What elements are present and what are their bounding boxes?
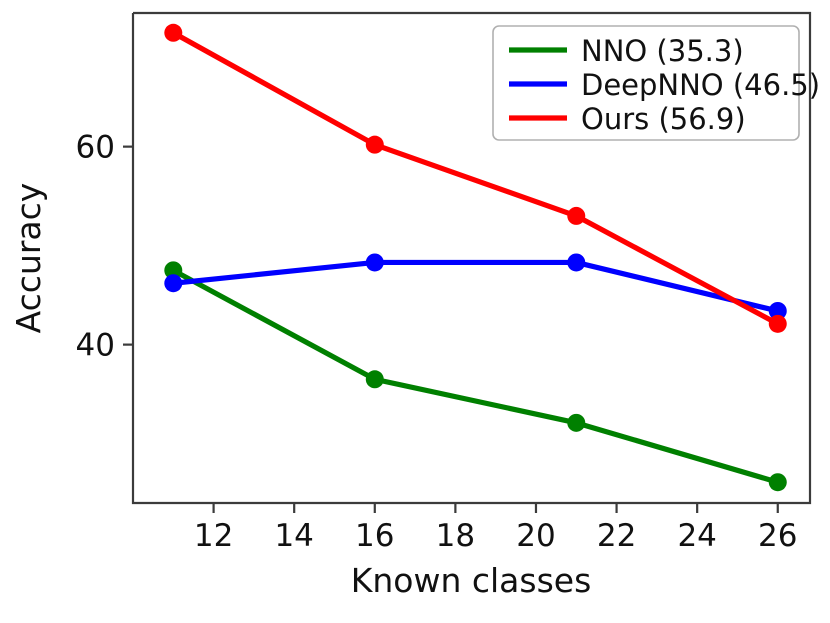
y-axis-title: Accuracy — [9, 183, 48, 334]
chart-figure: 1214161820222426 4060 Known classes Accu… — [0, 0, 830, 623]
y-axis-ticks: 4060 — [76, 130, 133, 364]
chart-legend[interactable]: NNO (35.3)DeepNNO (46.5)Ours (56.9) — [493, 26, 820, 140]
data-point-ours — [567, 207, 585, 225]
x-tick-label: 22 — [597, 518, 636, 554]
legend-label-0: NNO (35.3) — [581, 34, 744, 68]
data-point-deepnno — [366, 253, 384, 271]
x-tick-label: 20 — [516, 518, 555, 554]
data-point-ours — [366, 136, 384, 154]
x-axis-title: Known classes — [351, 561, 592, 600]
accuracy-vs-known-classes-line-chart: 1214161820222426 4060 Known classes Accu… — [0, 0, 830, 623]
data-point-nno — [769, 473, 787, 491]
x-tick-label: 18 — [436, 518, 475, 554]
data-point-nno — [567, 414, 585, 432]
x-tick-label: 12 — [194, 518, 233, 554]
x-tick-label: 14 — [274, 518, 313, 554]
legend-label-2: Ours (56.9) — [581, 102, 746, 136]
data-point-ours — [769, 315, 787, 333]
legend-label-1: DeepNNO (46.5) — [581, 68, 820, 102]
x-tick-label: 26 — [758, 518, 797, 554]
x-axis-ticks: 1214161820222426 — [194, 503, 798, 554]
y-tick-label: 60 — [76, 130, 115, 166]
data-point-ours — [164, 24, 182, 42]
x-tick-label: 16 — [355, 518, 394, 554]
data-point-deepnno — [567, 253, 585, 271]
y-tick-label: 40 — [76, 328, 115, 364]
data-point-deepnno — [164, 274, 182, 292]
x-tick-label: 24 — [677, 518, 716, 554]
data-point-nno — [366, 370, 384, 388]
